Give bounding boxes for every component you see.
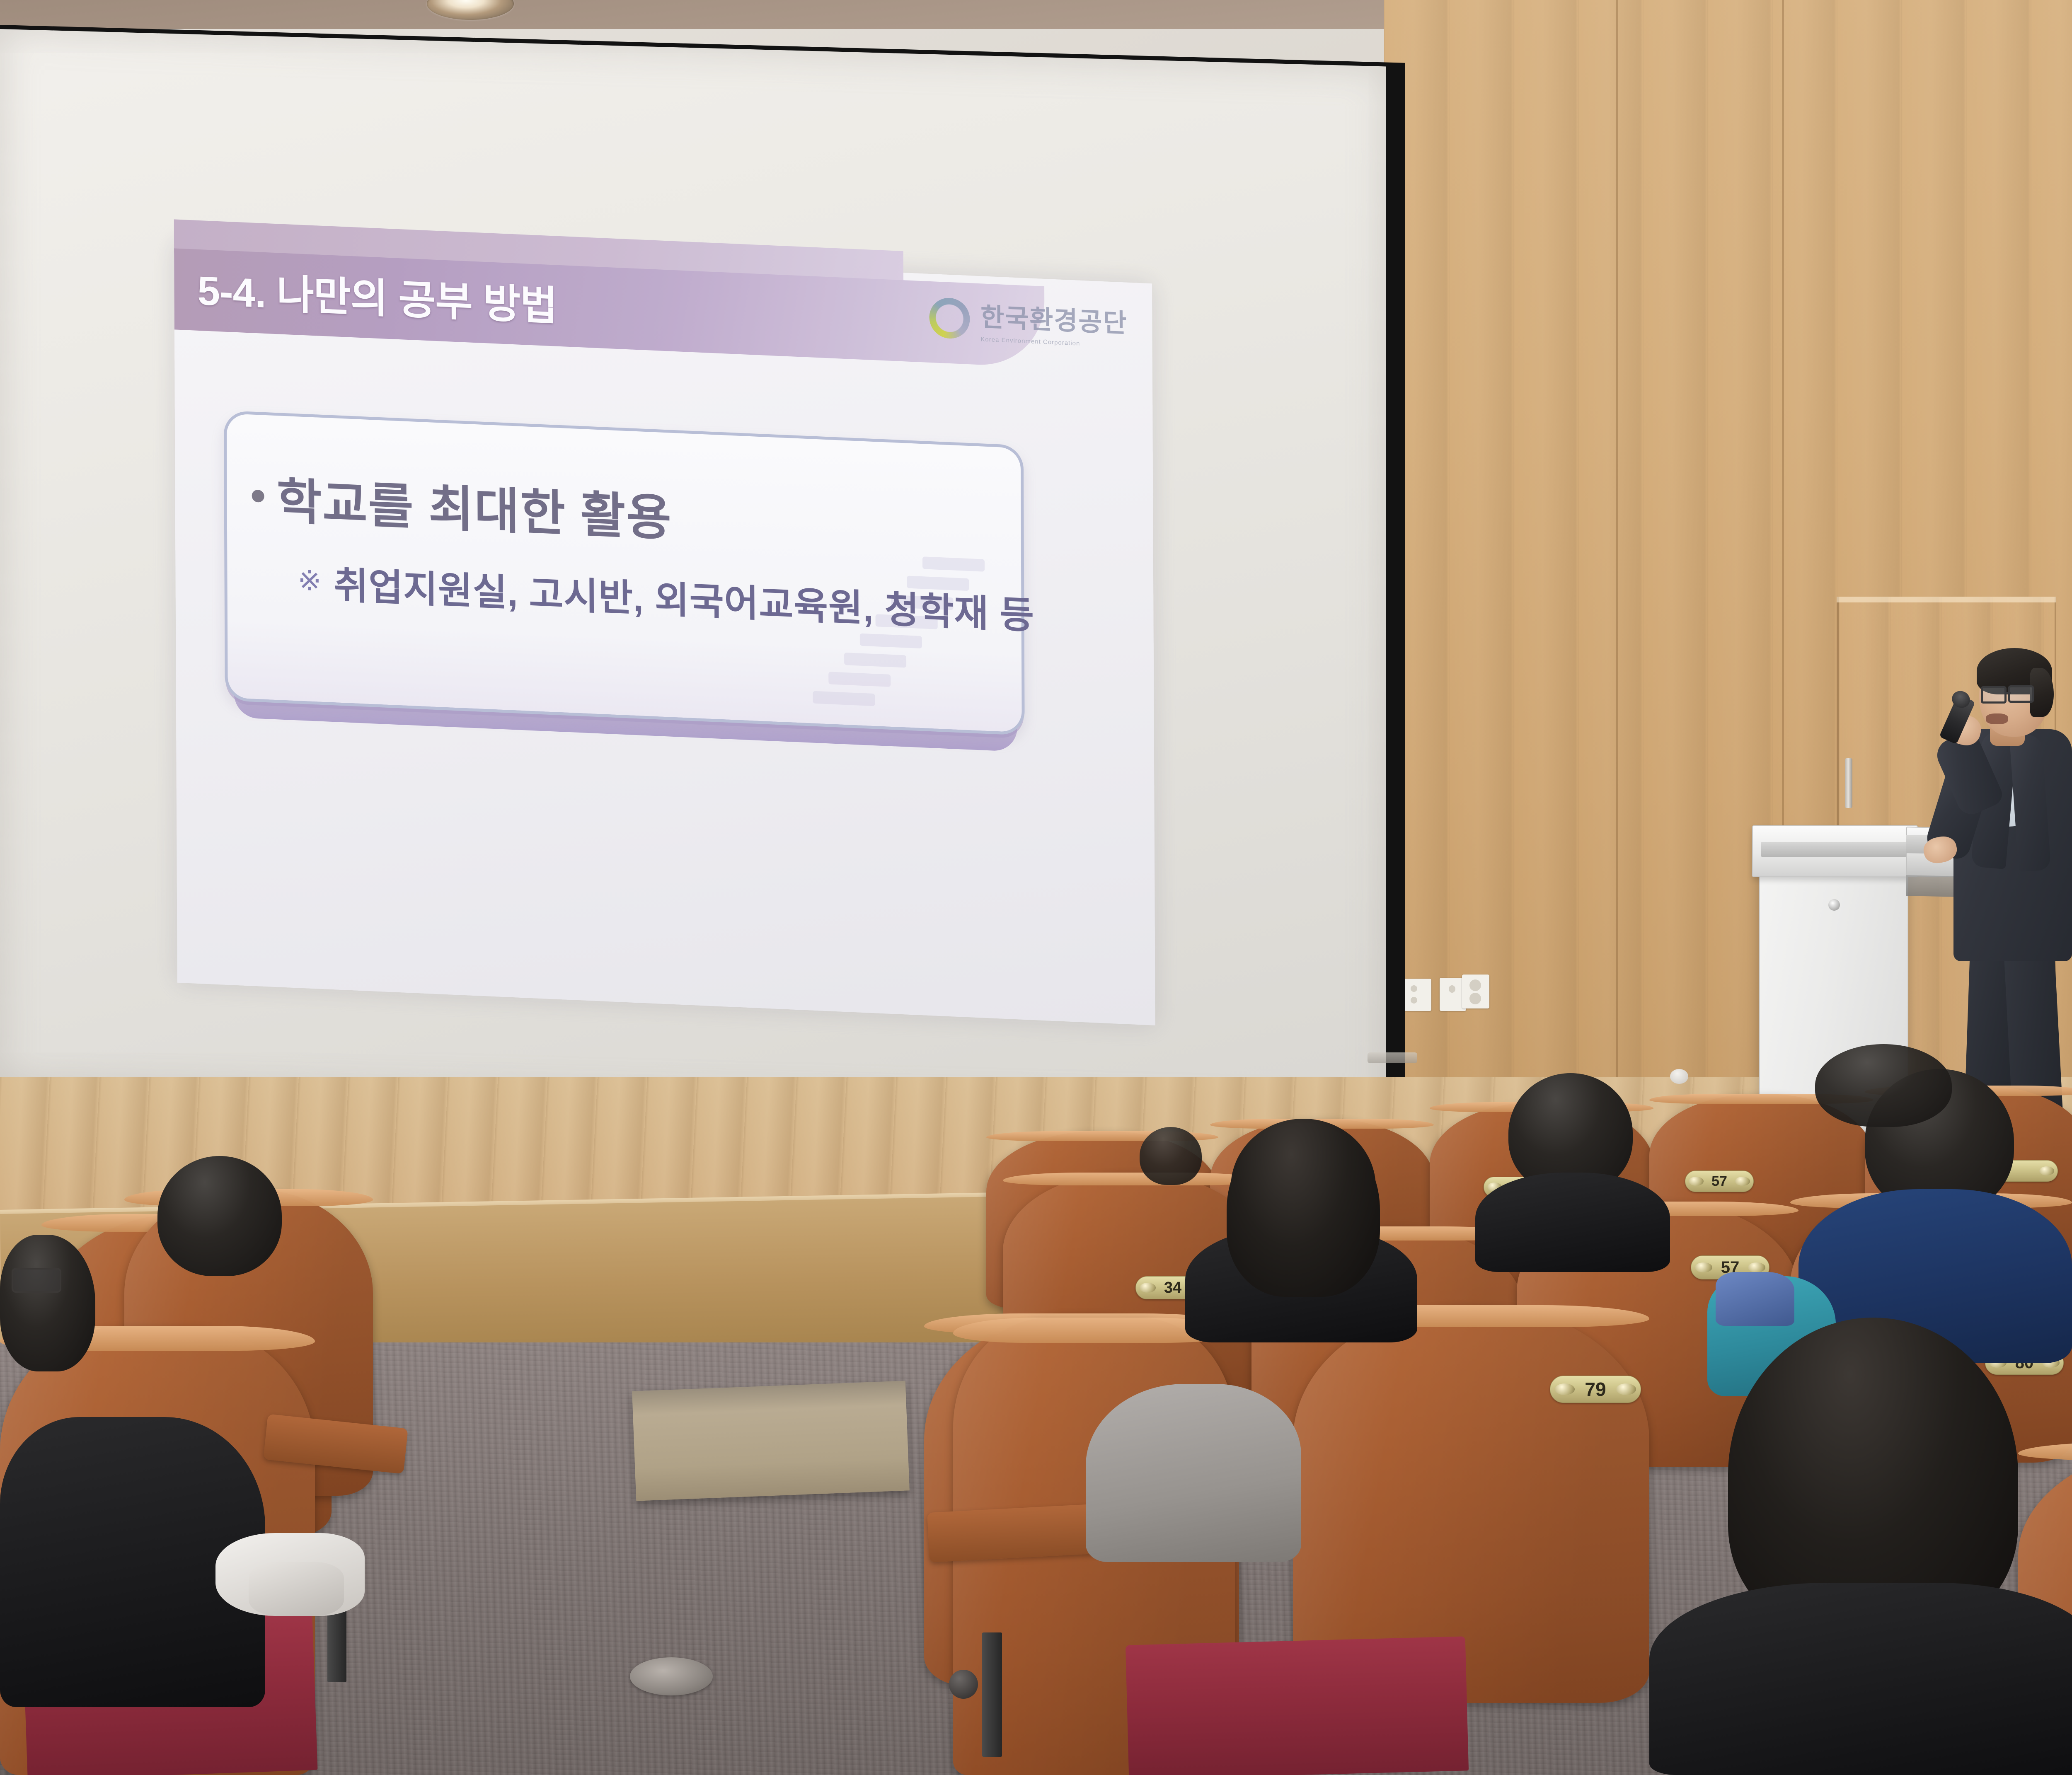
- projection-screen-surface: 5-4. 나만의 공부 방법 한국환경공단 Korea Environment …: [0, 29, 1386, 1119]
- presenter-glasses-bridge: [2006, 692, 2011, 694]
- slide-bullet-1: 학교를 최대한 활용: [252, 460, 672, 549]
- av-connector-plate[interactable]: [1404, 979, 1431, 1011]
- power-outlet-duplex[interactable]: [1462, 975, 1489, 1008]
- audience-head-2: [157, 1156, 282, 1276]
- audience-head-3-small: [1140, 1127, 1202, 1185]
- seat-caster-icon: [949, 1670, 978, 1699]
- floor-vent: [630, 1657, 713, 1695]
- seat-plate-57: 57: [1685, 1170, 1754, 1192]
- podium-lock[interactable]: [1828, 899, 1840, 911]
- door-handle: [1845, 758, 1852, 808]
- cable-on-stage: [1368, 1052, 1417, 1063]
- audience-shoulders-8: [1649, 1583, 2072, 1775]
- wooden-step-block: [632, 1381, 910, 1501]
- logo-korean-text: 한국환경공단: [980, 296, 1128, 339]
- audience-glasses-1: [12, 1268, 61, 1293]
- snowflake-marker-icon: ※: [298, 564, 321, 598]
- stairs-decoration-icon: [786, 542, 1002, 746]
- organization-logo: 한국환경공단 Korea Environment Corporation: [929, 294, 1128, 349]
- seat-leg-center: [982, 1632, 1002, 1757]
- seat-armrest-center: [927, 1504, 1104, 1562]
- slide-bullet-1-text: 학교를 최대한 활용: [276, 461, 672, 549]
- bullet-dot-icon: [252, 489, 264, 502]
- audience-jacket-patch-6: [1716, 1272, 1794, 1326]
- audience-head-6: [1815, 1044, 1952, 1127]
- audience-head-1: [0, 1235, 95, 1371]
- presentation-slide: 5-4. 나만의 공부 방법 한국환경공단 Korea Environment …: [174, 241, 1155, 1025]
- presenter-mouth: [1986, 713, 2008, 724]
- wall-seam-2: [1616, 0, 1618, 1102]
- audience-shoulders-5: [1475, 1173, 1670, 1272]
- podium-brand-label: [1873, 870, 1887, 878]
- slide-content-box: 학교를 최대한 활용 ※ 취업지원실, 고시반, 외국어교육원, 청학재 등: [224, 411, 1025, 735]
- door-top-trim: [1837, 597, 2056, 602]
- small-floor-object: [1670, 1069, 1688, 1084]
- audience-shoulders-3: [1086, 1384, 1301, 1562]
- presenter-glasses-right: [2008, 685, 2034, 703]
- seat-plate-79: 79: [1550, 1376, 1641, 1403]
- audience-paper-1: [249, 1562, 344, 1616]
- seat-cushion-center: [1126, 1636, 1469, 1775]
- ring-icon: [929, 297, 970, 339]
- podium-slot: [1761, 842, 1906, 857]
- presenter-glasses-left: [1981, 686, 2007, 704]
- auditorium-photo-scene: 5-4. 나만의 공부 방법 한국환경공단 Korea Environment …: [0, 0, 2072, 1775]
- audience-head-3: [1227, 1123, 1380, 1297]
